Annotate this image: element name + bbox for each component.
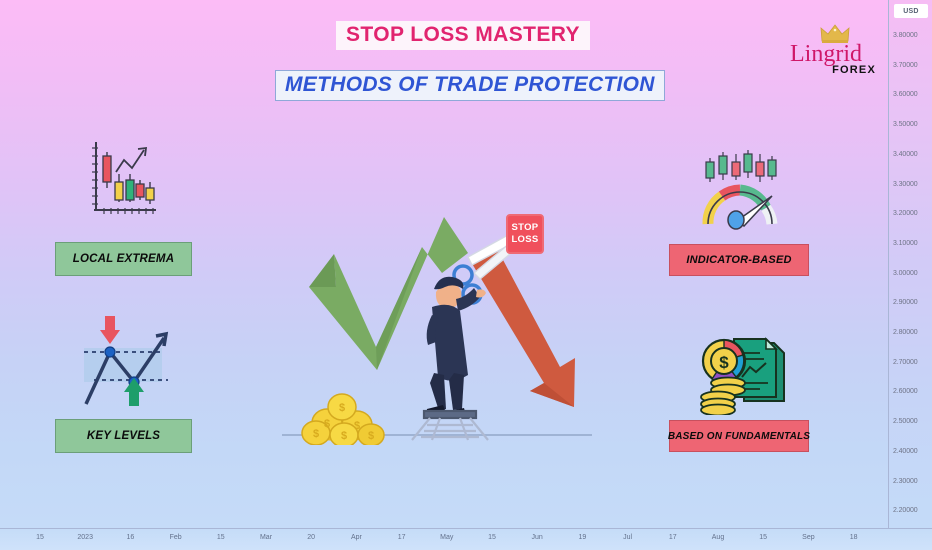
time-axis-tick: 15 xyxy=(217,534,225,541)
svg-text:$: $ xyxy=(719,353,729,372)
time-axis-tick: Jun xyxy=(532,534,543,541)
time-axis-tick: Apr xyxy=(351,534,362,541)
svg-text:$: $ xyxy=(339,402,345,414)
time-axis-tick: Jul xyxy=(623,534,632,541)
svg-text:$: $ xyxy=(324,418,330,430)
time-axis-tick: Aug xyxy=(712,534,724,541)
price-axis-tick: 3.50000 xyxy=(893,121,918,128)
svg-text:$: $ xyxy=(313,428,319,440)
time-axis-tick: Sep xyxy=(802,534,814,541)
method-label-based-on-fundamentals[interactable]: BASED ON FUNDAMENTALS xyxy=(669,420,809,452)
chart-background-canvas: STOP LOSS MASTERY METHODS OF TRADE PROTE… xyxy=(0,0,932,550)
price-axis-tick: 3.00000 xyxy=(893,270,918,277)
price-axis-tick: 3.30000 xyxy=(893,181,918,188)
coins-report-icon: $ xyxy=(698,337,788,420)
price-axis-tick: 2.80000 xyxy=(893,329,918,336)
gauge-indicator-icon xyxy=(692,146,788,235)
stop-loss-line2: LOSS xyxy=(511,234,538,246)
price-axis-tick: 2.50000 xyxy=(893,418,918,425)
price-axis-tick: 2.90000 xyxy=(893,299,918,306)
candlestick-chart-icon xyxy=(88,138,160,225)
stop-loss-sign: STOP LOSS xyxy=(506,214,544,254)
stop-loss-line1: STOP xyxy=(512,222,539,234)
time-axis-tick: 15 xyxy=(36,534,44,541)
method-label-key-levels[interactable]: KEY LEVELS xyxy=(55,419,192,453)
price-axis-tick: 3.20000 xyxy=(893,210,918,217)
price-axis-tick: 3.10000 xyxy=(893,240,918,247)
time-axis-tick: Mar xyxy=(260,534,272,541)
time-axis[interactable]: 15202316Feb15Mar20Apr17May15Jun19Jul17Au… xyxy=(0,528,932,550)
time-axis-tick: 17 xyxy=(669,534,677,541)
price-axis-tick: 2.40000 xyxy=(893,448,918,455)
price-axis-tick: 3.70000 xyxy=(893,62,918,69)
price-axis-tick: 3.40000 xyxy=(893,151,918,158)
lingrid-forex-logo: Lingrid FOREX xyxy=(790,24,876,78)
gold-coins: $$ $$ $$ xyxy=(302,394,384,445)
price-axis-tick: 3.80000 xyxy=(893,32,918,39)
time-axis-tick: 19 xyxy=(578,534,586,541)
logo-suffix-text: FOREX xyxy=(832,64,876,76)
page-subtitle: METHODS OF TRADE PROTECTION xyxy=(275,70,665,101)
price-axis-tick: 2.70000 xyxy=(893,359,918,366)
time-axis-tick: 18 xyxy=(850,534,858,541)
trade-protection-illustration: $$ $$ $$ xyxy=(272,195,602,445)
method-label-local-extrema[interactable]: LOCAL EXTREMA xyxy=(55,242,192,276)
businessman-figure xyxy=(426,277,486,417)
price-axis-tick: 3.60000 xyxy=(893,91,918,98)
time-axis-tick: 16 xyxy=(126,534,134,541)
time-axis-tick: Feb xyxy=(170,534,182,541)
time-axis-tick: 15 xyxy=(488,534,496,541)
price-axis-tick: 2.30000 xyxy=(893,478,918,485)
svg-text:$: $ xyxy=(341,430,347,442)
support-resistance-icon xyxy=(72,312,180,415)
price-axis[interactable]: USD 3.800003.700003.600003.500003.400003… xyxy=(888,0,932,528)
currency-badge: USD xyxy=(894,4,928,18)
time-axis-tick: 2023 xyxy=(77,534,93,541)
page-title: STOP LOSS MASTERY xyxy=(336,21,590,50)
price-axis-tick: 2.60000 xyxy=(893,388,918,395)
time-axis-tick: 17 xyxy=(398,534,406,541)
time-axis-tick: 20 xyxy=(307,534,315,541)
price-axis-tick: 2.20000 xyxy=(893,507,918,514)
svg-text:$: $ xyxy=(354,420,360,432)
svg-text:$: $ xyxy=(368,430,374,442)
time-axis-tick: May xyxy=(440,534,453,541)
time-axis-tick: 15 xyxy=(759,534,767,541)
method-label-indicator-based[interactable]: INDICATOR-BASED xyxy=(669,244,809,276)
logo-brand-text: Lingrid xyxy=(790,42,862,66)
